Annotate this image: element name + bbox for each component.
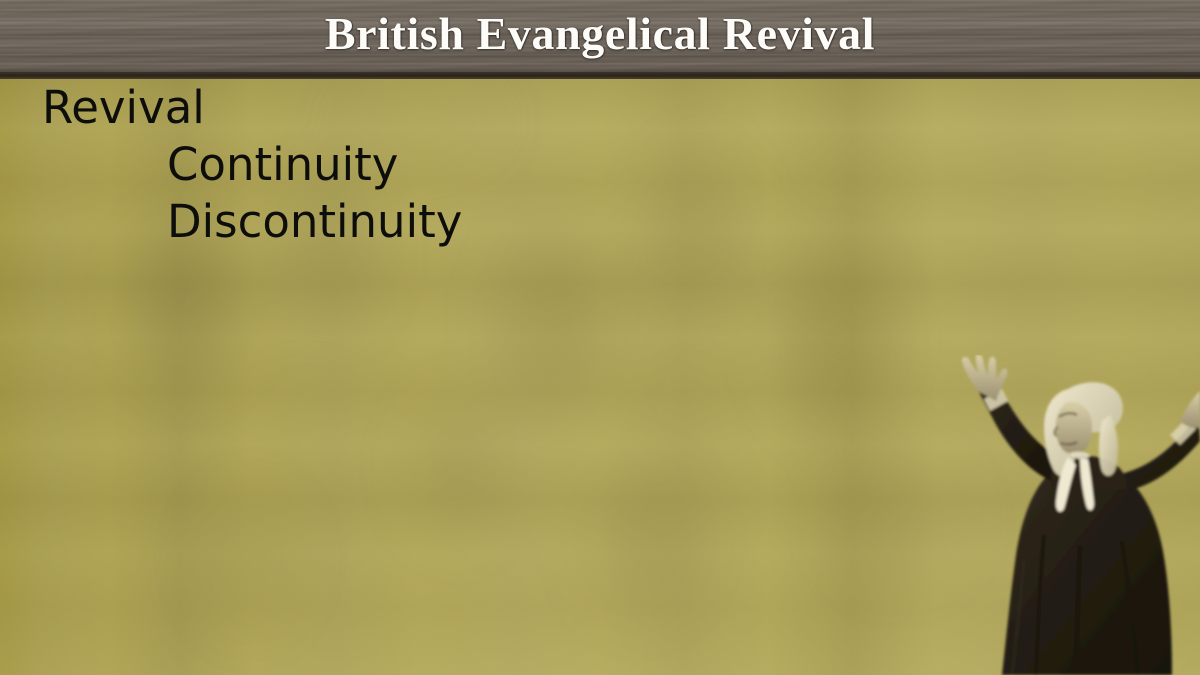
bullet-list: Revival Continuity Discontinuity [0,79,760,250]
bullet-item-continuity: Continuity [0,136,760,193]
slide-title: British Evangelical Revival [0,3,1200,65]
bullet-item-discontinuity: Discontinuity [0,193,760,250]
title-bar-bottom-edge [0,72,1200,79]
slide: British Evangelical Revival Revival Cont… [0,0,1200,675]
title-bar: British Evangelical Revival [0,0,1200,72]
bullet-item-revival: Revival [0,79,760,136]
